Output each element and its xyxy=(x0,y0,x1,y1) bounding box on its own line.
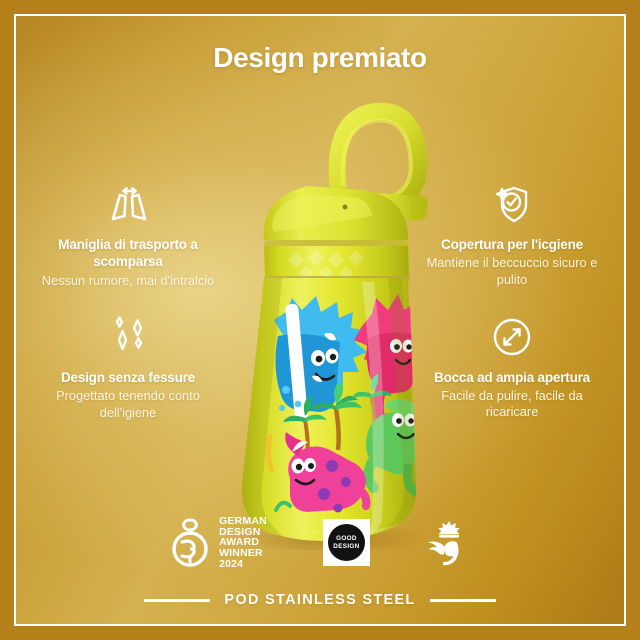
feature-hygiene-cover: Copertura per l'icgiene Mantiene il becc… xyxy=(412,178,612,289)
dinosaur-graphics xyxy=(268,294,436,513)
yellow-accent xyxy=(268,436,272,470)
blue-dinosaur xyxy=(274,296,367,420)
feature-body: Nessun rumore, mai d'intralcio xyxy=(28,273,228,290)
expand-arrows-circle-icon xyxy=(412,311,612,363)
pink-pterodactyl xyxy=(285,432,366,513)
feature-wide-mouth: Bocca ad ampia apertura Facile da pulire… xyxy=(412,311,612,422)
footer: POD STAINLESS STEEL xyxy=(16,592,624,608)
good-design-square: GOOD DESIGN xyxy=(323,519,370,566)
feature-seamless-design: Design senza fessure Progettato tenendo … xyxy=(28,311,228,422)
feature-body: Facile da pulire, facile da ricaricare xyxy=(412,388,612,421)
good-design-line2: DESIGN xyxy=(333,543,359,551)
poster-frame: Design premiato xyxy=(14,14,626,626)
feature-body: Progettato tenendo conto dell'igiene xyxy=(28,388,228,421)
features-column-left: Maniglia di trasporto a scomparsa Nessun… xyxy=(28,178,228,444)
good-design-line1: GOOD xyxy=(336,535,357,543)
palm-tree xyxy=(310,382,362,450)
bottle-body xyxy=(242,278,436,541)
german-design-award-badge: GERMAN DESIGN AWARD WINNER 2024 xyxy=(168,516,267,570)
sparkles-icon xyxy=(28,311,228,363)
palm-tree xyxy=(352,374,392,428)
features-column-right: Copertura per l'icgiene Mantiene il becc… xyxy=(412,178,612,443)
bottle-collar xyxy=(264,246,410,281)
gda-line: 2024 xyxy=(219,559,267,570)
feature-collapsible-handle: Maniglia di trasporto a scomparsa Nessun… xyxy=(28,178,228,289)
feature-body: Mantiene il beccuccio sicuro e pulito xyxy=(412,255,612,288)
german-design-award-icon xyxy=(168,518,212,568)
award-badges: GERMAN DESIGN AWARD WINNER 2024 GOOD DES… xyxy=(16,516,624,570)
shield-check-icon xyxy=(412,178,612,230)
good-design-circle: GOOD DESIGN xyxy=(328,524,365,561)
flip-top-lid xyxy=(264,186,408,247)
page-title: Design premiato xyxy=(16,42,624,74)
green-accent xyxy=(276,503,290,510)
feature-heading: Design senza fessure xyxy=(28,369,228,386)
german-design-award-text: GERMAN DESIGN AWARD WINNER 2024 xyxy=(219,516,267,570)
palm-tree xyxy=(283,396,327,456)
footer-label: POD STAINLESS STEEL xyxy=(224,592,415,608)
queens-award-emblem-icon xyxy=(426,518,472,568)
footer-rule-left xyxy=(144,599,210,602)
feature-heading: Maniglia di trasporto a scomparsa xyxy=(28,236,228,271)
queens-award-badge xyxy=(426,518,472,568)
footer-rule-right xyxy=(430,599,496,602)
good-design-award-badge: GOOD DESIGN xyxy=(323,519,370,566)
feature-heading: Copertura per l'icgiene xyxy=(412,236,612,253)
poster-root: Design premiato xyxy=(0,0,640,640)
feature-heading: Bocca ad ampia apertura xyxy=(412,369,612,386)
collapsible-handle-icon xyxy=(28,178,228,230)
